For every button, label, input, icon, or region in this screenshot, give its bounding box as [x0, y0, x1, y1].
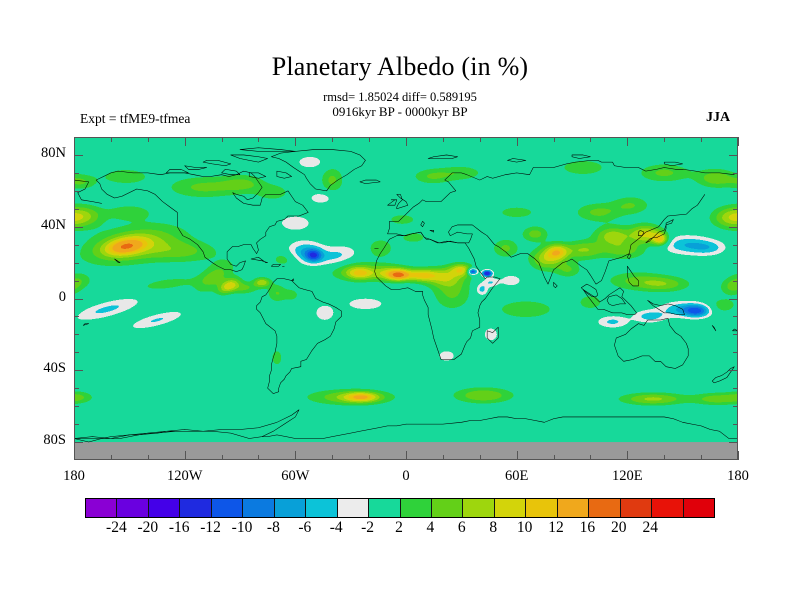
y-minor-tick-right [733, 263, 738, 264]
x-minor-tick [258, 455, 259, 460]
x-minor-tick [222, 455, 223, 460]
x-tick-label: 120W [145, 468, 225, 485]
colorbar-swatch [652, 499, 683, 517]
y-minor-tick-right [733, 173, 738, 174]
y-minor-tick-right [733, 406, 738, 407]
colorbar-swatch [369, 499, 400, 517]
y-minor-tick [74, 173, 79, 174]
x-minor-tick-top [369, 137, 370, 142]
colorbar [85, 498, 715, 518]
experiment-label: Expt = tfME9-tfmea [80, 111, 190, 127]
x-major-tick-top [627, 137, 628, 146]
y-minor-tick-right [733, 209, 738, 210]
colorbar-swatch [275, 499, 306, 517]
x-minor-tick-top [701, 137, 702, 142]
x-tick-label: 60W [255, 468, 335, 485]
y-minor-tick [74, 245, 79, 246]
y-major-tick-right [729, 299, 738, 300]
x-minor-tick-top [222, 137, 223, 142]
x-major-tick [627, 451, 628, 460]
colorbar-swatch [306, 499, 337, 517]
colorbar-swatch [338, 499, 369, 517]
x-tick-label: 0 [366, 468, 446, 485]
x-major-tick [74, 451, 75, 460]
map-plot-area [74, 137, 738, 460]
colorbar-swatch [589, 499, 620, 517]
y-minor-tick-right [733, 191, 738, 192]
x-minor-tick [369, 455, 370, 460]
y-tick-label: 80N [6, 145, 66, 162]
y-minor-tick [74, 388, 79, 389]
y-major-tick [74, 155, 83, 156]
colorbar-swatch [149, 499, 180, 517]
colorbar-swatch [243, 499, 274, 517]
x-major-tick [295, 451, 296, 460]
x-minor-tick-top [148, 137, 149, 142]
colorbar-swatch [463, 499, 494, 517]
x-minor-tick [554, 455, 555, 460]
colorbar-swatch [117, 499, 148, 517]
albedo-anomaly-map [74, 137, 738, 460]
x-major-tick [185, 451, 186, 460]
y-minor-tick-right [733, 316, 738, 317]
y-minor-tick-right [733, 388, 738, 389]
y-minor-tick-right [733, 245, 738, 246]
y-major-tick [74, 227, 83, 228]
x-major-tick-top [295, 137, 296, 146]
stats-subtitle: rmsd= 1.85024 diff= 0.589195 [0, 90, 800, 105]
x-minor-tick [443, 455, 444, 460]
x-minor-tick [148, 455, 149, 460]
x-major-tick-top [74, 137, 75, 146]
y-major-tick [74, 442, 83, 443]
x-major-tick-top [185, 137, 186, 146]
y-minor-tick [74, 263, 79, 264]
x-minor-tick-top [590, 137, 591, 142]
colorbar-tick-label: 24 [627, 519, 673, 537]
y-minor-tick [74, 352, 79, 353]
x-minor-tick-top [443, 137, 444, 142]
x-major-tick-top [738, 137, 739, 146]
x-minor-tick-top [480, 137, 481, 142]
colorbar-swatch [86, 499, 117, 517]
colorbar-swatch [495, 499, 526, 517]
x-minor-tick-top [664, 137, 665, 142]
x-tick-label: 60E [477, 468, 557, 485]
figure-root: Planetary Albedo (in %) rmsd= 1.85024 di… [0, 0, 800, 600]
y-minor-tick [74, 406, 79, 407]
y-major-tick-right [729, 370, 738, 371]
page-title: Planetary Albedo (in %) [0, 52, 800, 82]
x-tick-label: 120E [587, 468, 667, 485]
colorbar-swatch [526, 499, 557, 517]
x-minor-tick [590, 455, 591, 460]
x-major-tick [406, 451, 407, 460]
y-minor-tick-right [733, 424, 738, 425]
x-minor-tick-top [332, 137, 333, 142]
x-major-tick [738, 451, 739, 460]
x-minor-tick [664, 455, 665, 460]
y-major-tick [74, 370, 83, 371]
y-minor-tick [74, 424, 79, 425]
colorbar-swatch [558, 499, 589, 517]
y-tick-label: 80S [6, 432, 66, 449]
colorbar-swatch [684, 499, 714, 517]
colorbar-swatch [432, 499, 463, 517]
y-major-tick-right [729, 227, 738, 228]
x-minor-tick [701, 455, 702, 460]
y-major-tick [74, 299, 83, 300]
x-minor-tick [480, 455, 481, 460]
colorbar-swatch [401, 499, 432, 517]
y-major-tick-right [729, 442, 738, 443]
y-tick-label: 0 [6, 289, 66, 306]
y-major-tick-right [729, 155, 738, 156]
x-tick-label: 180 [698, 468, 778, 485]
y-tick-label: 40N [6, 217, 66, 234]
y-minor-tick [74, 191, 79, 192]
x-major-tick-top [517, 137, 518, 146]
x-minor-tick-top [258, 137, 259, 142]
y-minor-tick [74, 281, 79, 282]
x-major-tick-top [406, 137, 407, 146]
x-minor-tick [332, 455, 333, 460]
y-minor-tick [74, 316, 79, 317]
y-minor-tick-right [733, 334, 738, 335]
colorbar-swatch [180, 499, 211, 517]
colorbar-swatch [621, 499, 652, 517]
y-minor-tick-right [733, 281, 738, 282]
y-tick-label: 40S [6, 360, 66, 377]
x-tick-label: 180 [34, 468, 114, 485]
y-minor-tick-right [733, 352, 738, 353]
y-minor-tick [74, 334, 79, 335]
colorbar-swatch [212, 499, 243, 517]
season-label: JJA [706, 110, 730, 126]
x-minor-tick [111, 455, 112, 460]
y-minor-tick [74, 209, 79, 210]
x-minor-tick-top [111, 137, 112, 142]
x-major-tick [517, 451, 518, 460]
x-minor-tick-top [554, 137, 555, 142]
